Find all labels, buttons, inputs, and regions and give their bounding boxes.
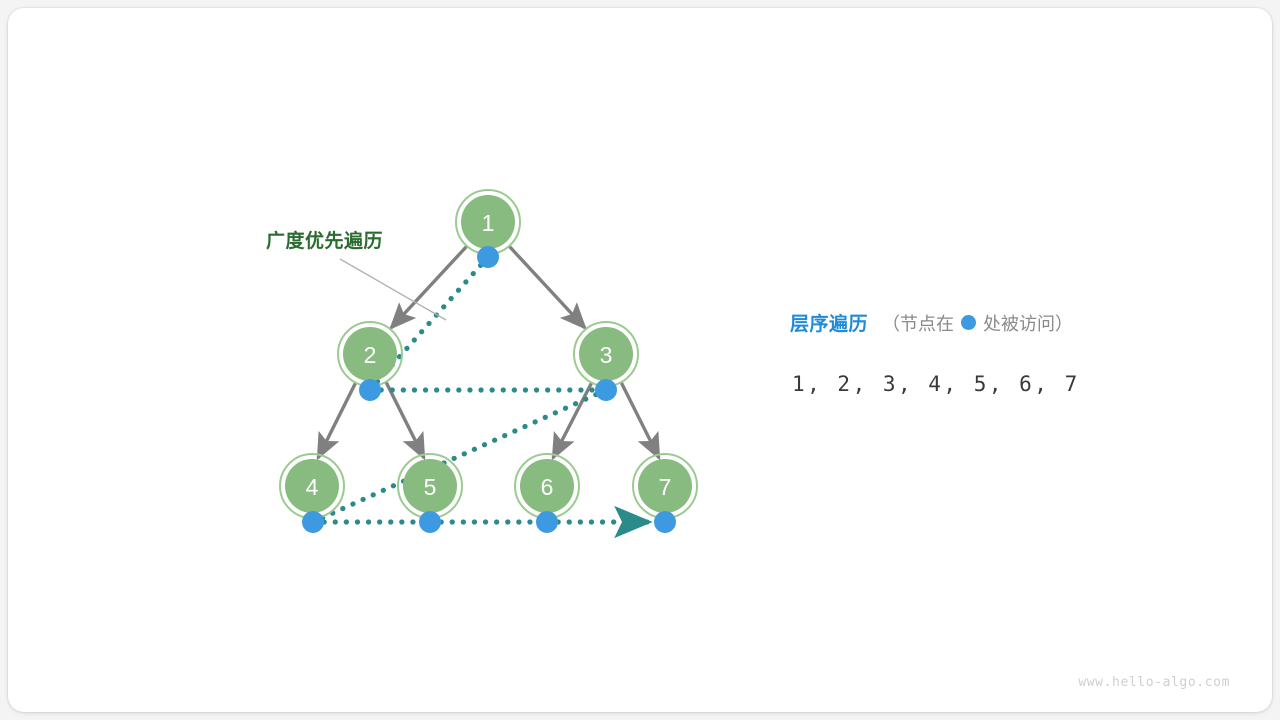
visit-dot-node-7[interactable] — [654, 511, 676, 533]
tree-node-7[interactable]: 7 — [633, 454, 697, 518]
edge-1-2 — [391, 246, 467, 328]
node-label: 3 — [600, 342, 613, 368]
traversal-sequence: 1, 2, 3, 4, 5, 6, 7 — [792, 372, 1080, 396]
tree-node-1[interactable]: 1 — [456, 190, 520, 254]
tree-node-4[interactable]: 4 — [280, 454, 344, 518]
node-label: 2 — [364, 342, 377, 368]
edge-2-4 — [318, 382, 356, 458]
node-label: 7 — [659, 474, 672, 500]
visit-dot-node-1[interactable] — [477, 246, 499, 268]
legend-note: （节点在 处被访问） — [882, 310, 1073, 336]
screenshot-root: 1 2 3 4 — [0, 0, 1280, 720]
binary-tree-bfs-diagram: 1 2 3 4 — [8, 8, 1272, 712]
blue-visit-dot-icon — [961, 315, 976, 330]
tree-node-3[interactable]: 3 — [574, 322, 638, 386]
legend-note-before: （节点在 — [882, 310, 954, 336]
visit-dot-node-2[interactable] — [359, 379, 381, 401]
edge-2-5 — [386, 382, 424, 458]
legend-title: 层序遍历 — [790, 309, 868, 336]
node-label: 5 — [424, 474, 437, 500]
visit-dot-node-6[interactable] — [536, 511, 558, 533]
node-label: 4 — [306, 474, 319, 500]
annotation-leader-line — [340, 259, 446, 320]
visit-dot-node-5[interactable] — [419, 511, 441, 533]
visit-dot-node-4[interactable] — [302, 511, 324, 533]
tree-node-5[interactable]: 5 — [398, 454, 462, 518]
legend-note-after: 处被访问） — [983, 310, 1073, 336]
visit-dots — [302, 246, 676, 533]
legend: 层序遍历 （节点在 处被访问） — [790, 309, 1073, 336]
diagram-card: 1 2 3 4 — [8, 8, 1272, 712]
edge-1-3 — [509, 246, 585, 328]
node-label: 6 — [541, 474, 554, 500]
node-label: 1 — [482, 210, 495, 236]
bfs-annotation-label: 广度优先遍历 — [266, 226, 383, 253]
watermark: www.hello-algo.com — [1078, 675, 1230, 690]
edge-3-6 — [553, 382, 592, 458]
tree-node-6[interactable]: 6 — [515, 454, 579, 518]
tree-node-2[interactable]: 2 — [338, 322, 402, 386]
edge-3-7 — [621, 382, 659, 458]
visit-dot-node-3[interactable] — [595, 379, 617, 401]
